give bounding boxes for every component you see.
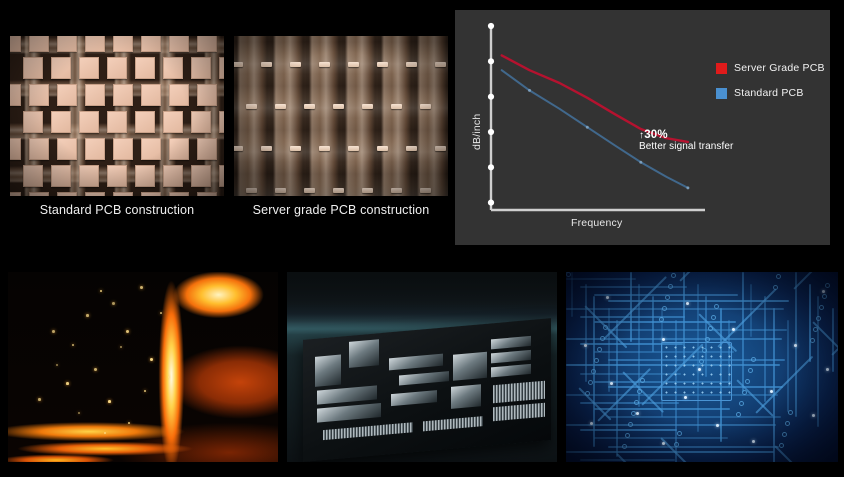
weave-resin-window [113, 84, 133, 106]
pcb-solder-highlight [812, 414, 815, 417]
pcb-via-pad [748, 368, 753, 373]
pcb-trace-horizontal [566, 278, 636, 280]
board-component [399, 371, 449, 385]
weave-resin-window [85, 84, 105, 106]
motherboard-assembly-photo [287, 272, 557, 462]
pcb-via-pad [662, 306, 667, 311]
weave-resin-window [113, 36, 133, 52]
weave-resin-window [141, 192, 161, 196]
weave-resin-slit [246, 188, 257, 193]
improvement-percent: 30% [644, 129, 668, 141]
server-grade-pcb-weave-panel [234, 36, 448, 196]
weave-resin-window [135, 111, 155, 133]
pcb-via-pad [779, 443, 784, 448]
board-slot [493, 381, 545, 404]
board-slot [423, 416, 483, 431]
weave-resin-window [51, 111, 71, 133]
screenshot-root: Standard PCB construction Server grade P… [0, 0, 844, 477]
pcb-via-pad [742, 390, 747, 395]
pcb-via-pad [822, 294, 827, 299]
weave-resin-slit [348, 62, 359, 67]
y-axis-label: dB/inch [471, 114, 483, 150]
legend-swatch-server-grade-pcb [716, 63, 727, 74]
standard-pcb-weave-panel [10, 36, 224, 196]
weave-resin-slit [420, 104, 431, 109]
pcb-trace-vertical [742, 272, 744, 392]
pcb-solder-highlight [610, 382, 613, 385]
weave-resin-slit [304, 104, 315, 109]
weave-resin-slit [377, 62, 388, 67]
weave-resin-window [113, 138, 133, 160]
weave-resin-window [29, 192, 49, 196]
pcb-trace-vertical [773, 308, 775, 462]
spark-particle [56, 364, 58, 366]
weave-resin-window [79, 165, 99, 187]
weave-resin-window [10, 36, 21, 52]
bga-chip-pad-array [661, 342, 732, 401]
pcb-trace-horizontal [608, 416, 781, 418]
weave-resin-window [197, 192, 217, 196]
pcb-solder-highlight [732, 328, 735, 331]
weave-resin-window [23, 165, 43, 187]
improvement-annotation: ↑30% Better signal transfer [639, 129, 733, 152]
weave-resin-window [57, 36, 77, 52]
spark-particle [86, 314, 89, 317]
pcb-via-pad [640, 378, 645, 383]
spark-particle [168, 376, 170, 378]
pcb-solder-highlight [794, 344, 797, 347]
board-component [491, 350, 531, 363]
weave-resin-window [23, 57, 43, 79]
weave-resin-window [169, 192, 189, 196]
pcb-trace-vertical [787, 320, 789, 412]
pcb-via-pad [751, 357, 756, 362]
weave-resin-window [135, 165, 155, 187]
weave-resin-slit [246, 104, 257, 109]
board-component [391, 390, 437, 406]
weave-resin-window [197, 84, 217, 106]
legend-label-standard-pcb: Standard PCB [734, 87, 804, 99]
board-slot [323, 422, 413, 440]
pcb-solder-highlight [716, 424, 719, 427]
pcb-via-pad [745, 379, 750, 384]
pcb-via-pad [668, 284, 673, 289]
board-component [491, 364, 531, 377]
legend-item-server-grade-pcb: Server Grade PCB [716, 62, 825, 74]
pcb-solder-highlight [686, 302, 689, 305]
signal-loss-chart [455, 10, 830, 245]
pcb-via-pad [622, 444, 627, 449]
pcb-via-pad [671, 273, 676, 278]
weave-resin-slit [406, 146, 417, 151]
weave-resin-window [29, 138, 49, 160]
spark-particle [100, 290, 102, 292]
x-axis-label: Frequency [571, 217, 622, 229]
pcb-via-pad [810, 338, 815, 343]
weave-resin-slit [362, 104, 373, 109]
weave-resin-window [169, 36, 189, 52]
weave-resin-window [141, 138, 161, 160]
weave-resin-slit [304, 188, 315, 193]
weave-resin-slit [261, 146, 272, 151]
spark-particle [52, 330, 55, 333]
pcb-via-pad [603, 325, 608, 330]
improvement-subtitle: Better signal transfer [639, 141, 733, 152]
weave-resin-window [163, 57, 183, 79]
weave-resin-slit [435, 62, 446, 67]
weave-resin-window [10, 84, 21, 106]
weave-resin-slit [333, 188, 344, 193]
weave-resin-window [113, 192, 133, 196]
weave-resin-slit [435, 146, 446, 151]
pcb-via-pad [813, 327, 818, 332]
weave-resin-window [29, 36, 49, 52]
pcb-solder-highlight [636, 412, 639, 415]
weave-resin-window [197, 138, 217, 160]
weave-resin-window [10, 192, 21, 196]
signal-loss-chart-panel: dB/inch Frequency Server Grade PCB Stand… [455, 10, 830, 245]
standard-pcb-weave-image [10, 36, 224, 196]
weave-resin-window [23, 111, 43, 133]
weave-resin-slit [377, 146, 388, 151]
spark-particle [120, 346, 122, 348]
board-component [349, 339, 379, 368]
pcb-trace-diagonal [793, 272, 838, 290]
pcb-via-pad [708, 326, 713, 331]
pcb-via-pad [600, 336, 605, 341]
weave-resin-slit [234, 146, 243, 151]
weave-resin-window [85, 36, 105, 52]
spark-particle [150, 358, 153, 361]
weave-resin-window [219, 111, 224, 133]
spark-particle [78, 412, 80, 414]
pcb-trace-vertical [630, 272, 632, 342]
weave-resin-window [219, 165, 224, 187]
weave-resin-window [51, 165, 71, 187]
weave-resin-window [107, 57, 127, 79]
spark-particle [144, 390, 146, 392]
pcb-solder-highlight [662, 338, 665, 341]
standard-pcb-caption: Standard PCB construction [10, 203, 224, 217]
weave-resin-window [29, 84, 49, 106]
motherboard-body [303, 318, 551, 461]
pcb-via-pad [785, 421, 790, 426]
pcb-trace-horizontal [566, 338, 782, 340]
pcb-via-pad [736, 412, 741, 417]
pcb-via-pad [825, 283, 830, 288]
weave-resin-slit [275, 104, 286, 109]
pcb-via-pad [625, 433, 630, 438]
spark-particle [160, 312, 162, 314]
spark-particle [140, 286, 143, 289]
vignette-overlay [234, 36, 448, 196]
weave-resin-slit [234, 62, 243, 67]
pcb-solder-highlight [822, 290, 825, 293]
weave-resin-window [197, 36, 217, 52]
pcb-solder-highlight [770, 390, 773, 393]
pcb-via-pad [594, 358, 599, 363]
pcb-solder-highlight [584, 344, 587, 347]
weave-resin-slit [362, 188, 373, 193]
weave-resin-window [79, 111, 99, 133]
pcb-trace-vertical [585, 284, 587, 382]
pcb-via-pad [816, 316, 821, 321]
pcb-via-pad [705, 337, 710, 342]
weave-resin-window [107, 165, 127, 187]
legend-item-standard-pcb: Standard PCB [716, 87, 825, 99]
pcb-solder-highlight [606, 296, 609, 299]
weave-resin-window [169, 84, 189, 106]
pcb-solder-highlight [590, 422, 593, 425]
weave-resin-window [141, 84, 161, 106]
weave-resin-slit [406, 62, 417, 67]
server-grade-pcb-weave-image [234, 36, 448, 196]
pcb-via-pad [588, 380, 593, 385]
pcb-via-pad [628, 422, 633, 427]
weave-resin-window [141, 36, 161, 52]
pcb-via-pad [634, 400, 639, 405]
weave-resin-window [219, 57, 224, 79]
chart-legend: Server Grade PCB Standard PCB [716, 62, 825, 112]
weave-resin-window [191, 111, 211, 133]
pcb-via-pad [665, 295, 670, 300]
pcb-via-pad [711, 315, 716, 320]
pcb-via-pad [591, 369, 596, 374]
spark-particle [112, 302, 115, 305]
pcb-via-pad [659, 317, 664, 322]
weave-resin-window [79, 57, 99, 79]
weave-resin-window [191, 57, 211, 79]
pcb-trace-vertical [764, 296, 766, 402]
pcb-via-pad [788, 410, 793, 415]
pcb-trace-vertical [809, 284, 811, 362]
board-component [389, 354, 443, 371]
weave-resin-window [57, 84, 77, 106]
spark-particle [126, 330, 129, 333]
pcb-via-pad [714, 304, 719, 309]
blue-circuit-board-photo [566, 272, 838, 462]
board-component [453, 352, 487, 381]
weave-resin-window [163, 111, 183, 133]
pcb-trace-horizontal [566, 424, 776, 426]
improvement-percent-row: ↑30% [639, 129, 733, 141]
pcb-via-pad [739, 401, 744, 406]
weave-resin-slit [319, 146, 330, 151]
weave-resin-slit [391, 104, 402, 109]
weave-resin-window [107, 111, 127, 133]
pcb-trace-vertical [571, 272, 573, 317]
weave-resin-slit [261, 62, 272, 67]
spark-particle [108, 400, 111, 403]
pcb-via-pad [819, 305, 824, 310]
pcb-trace-horizontal [580, 459, 675, 461]
weave-resin-window [135, 57, 155, 79]
pcb-via-pad [776, 274, 781, 279]
weave-resin-slit [391, 188, 402, 193]
pcb-via-pad [773, 285, 778, 290]
weave-resin-slit [275, 188, 286, 193]
spark-particle [72, 344, 74, 346]
board-component [491, 336, 531, 349]
board-component [451, 384, 481, 409]
board-component [317, 385, 377, 404]
pcb-solder-highlight [826, 368, 829, 371]
pcb-via-pad [585, 391, 590, 396]
legend-label-server-grade-pcb: Server Grade PCB [734, 62, 825, 74]
pcb-via-pad [674, 442, 679, 447]
weave-resin-slit [290, 62, 301, 67]
pcb-via-pad [782, 432, 787, 437]
weave-resin-slit [319, 62, 330, 67]
pcb-trace-vertical [652, 296, 654, 352]
spark-particle [66, 382, 69, 385]
weave-resin-window [163, 165, 183, 187]
weave-resin-window [57, 138, 77, 160]
board-component [317, 403, 381, 423]
pcb-solder-highlight [662, 442, 665, 445]
pcb-trace-horizontal [608, 446, 779, 448]
weave-resin-window [169, 138, 189, 160]
weave-resin-slit [420, 188, 431, 193]
weave-resin-window [51, 57, 71, 79]
pcb-trace-vertical [608, 308, 610, 392]
weave-resin-window [85, 138, 105, 160]
spark-particle [128, 422, 130, 424]
weave-resin-window [85, 192, 105, 196]
spark-particle [104, 432, 106, 434]
board-slot [493, 403, 545, 422]
pcb-solder-highlight [752, 440, 755, 443]
weave-resin-slit [333, 104, 344, 109]
weave-resin-window [57, 192, 77, 196]
server-grade-pcb-caption: Server grade PCB construction [234, 203, 448, 217]
weave-resin-slit [290, 146, 301, 151]
weave-resin-slit [348, 146, 359, 151]
board-component [315, 355, 341, 387]
pcb-via-pad [677, 431, 682, 436]
spark-particle [94, 368, 97, 371]
weave-resin-window [10, 138, 21, 160]
pcb-via-pad [637, 389, 642, 394]
molten-metal-pour-photo [8, 272, 278, 462]
weave-resin-window [191, 165, 211, 187]
pcb-trace-horizontal [566, 451, 774, 453]
pcb-via-pad [597, 347, 602, 352]
legend-swatch-standard-pcb [716, 88, 727, 99]
pcb-trace-diagonal [679, 272, 740, 282]
spark-particle [38, 398, 41, 401]
pcb-via-pad [566, 272, 571, 277]
